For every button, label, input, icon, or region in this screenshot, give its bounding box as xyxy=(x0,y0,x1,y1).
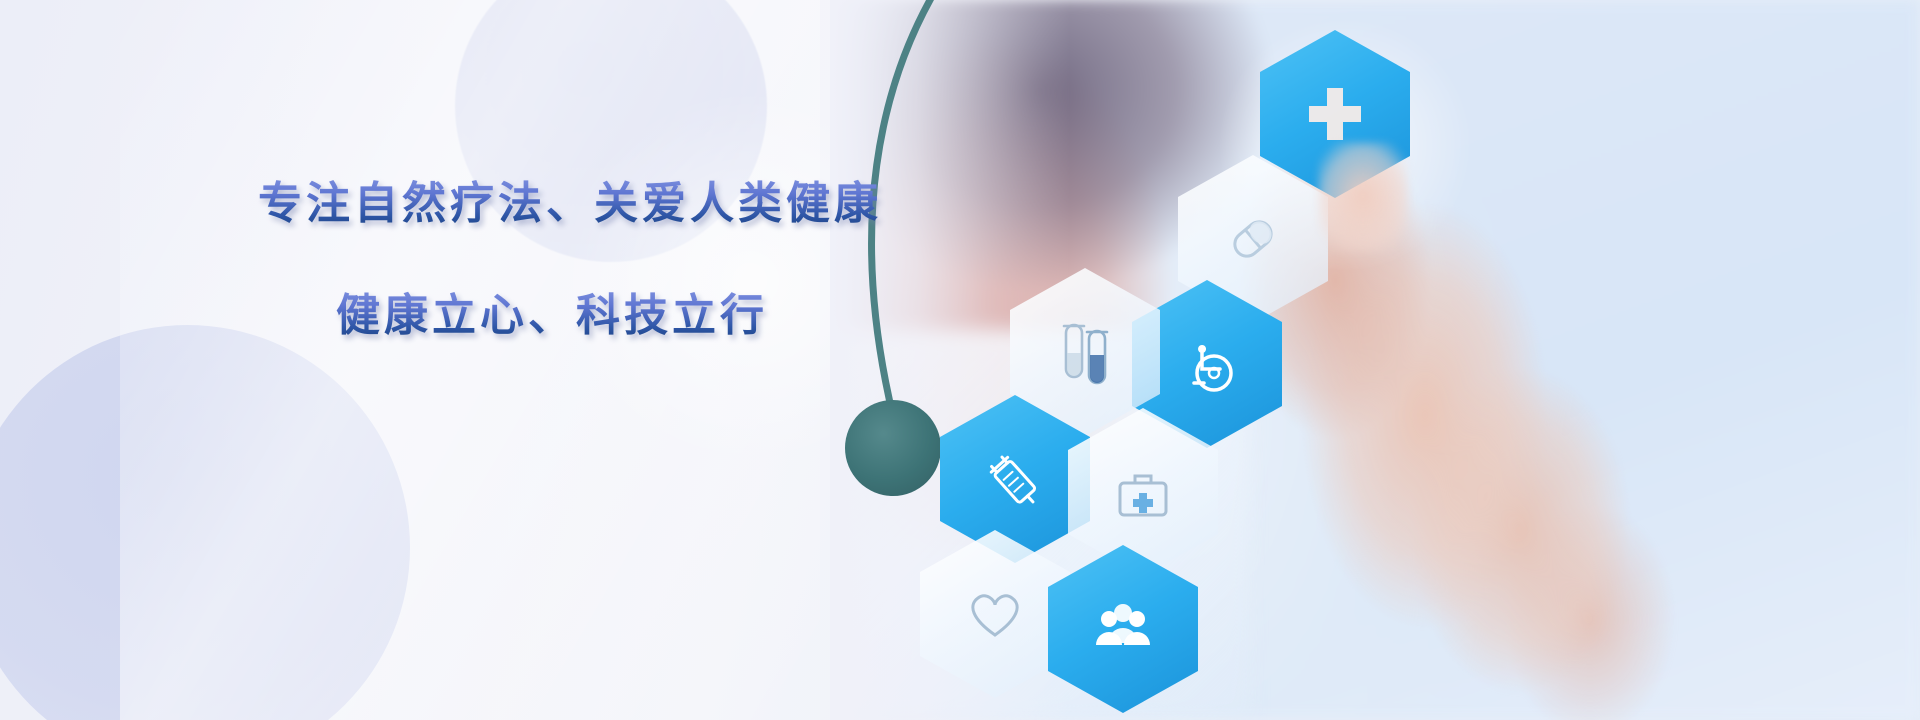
hexagon-icon-cluster xyxy=(920,10,1480,720)
headline-line-1: 专注自然疗法、关爱人类健康 xyxy=(258,178,958,230)
decorative-sheen xyxy=(120,0,820,720)
headline-line-2: 健康立心、科技立行 xyxy=(336,290,958,342)
headline-block: 专注自然疗法、关爱人类健康 健康立心、科技立行 xyxy=(258,178,958,342)
pointing-fingertip xyxy=(1318,142,1408,252)
heart-icon xyxy=(920,530,1070,698)
decorative-circle-bottom xyxy=(0,325,410,720)
hero-banner: 专注自然疗法、关爱人类健康 健康立心、科技立行 xyxy=(0,0,1920,720)
people-group-icon xyxy=(1048,545,1198,713)
